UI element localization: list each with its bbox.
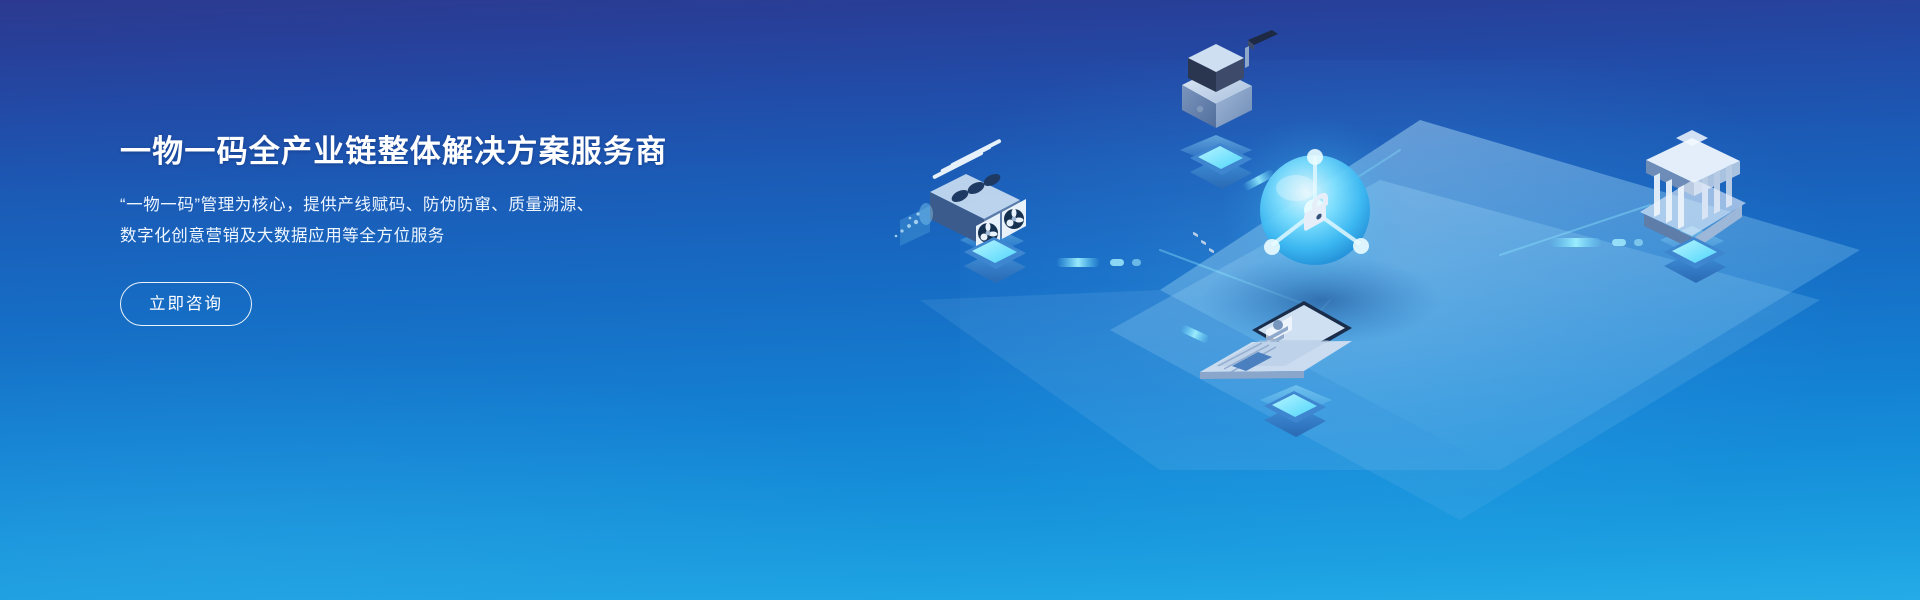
consult-now-button[interactable]: 立即咨询 [120,282,252,326]
cta-container: 立即咨询 [120,282,820,326]
page-title: 一物一码全产业链整体解决方案服务商 [120,132,820,172]
background-glow-secondary [0,330,1000,600]
hero-copy-block: 一物一码全产业链整体解决方案服务商 “一物一码”管理为核心，提供产线赋码、防伪防… [120,132,820,326]
hero-subtitle-line-2: 数字化创意营销及大数据应用等全方位服务 [120,221,820,252]
server-fan-rack-icon [895,139,1026,253]
hero-banner: 一物一码全产业链整体解决方案服务商 “一物一码”管理为核心，提供产线赋码、防伪防… [0,0,1920,600]
hero-subtitle-line-1: “一物一码”管理为核心，提供产线赋码、防伪防窜、质量溯源、 [120,190,820,221]
hero-subtitle: “一物一码”管理为核心，提供产线赋码、防伪防窜、质量溯源、 数字化创意营销及大数… [120,190,820,252]
airflow-icon [895,203,933,246]
connector-left [1056,258,1141,267]
isometric-network-scene [860,0,1920,600]
node-server-rack [895,139,1026,283]
hero-illustration [860,0,1920,600]
